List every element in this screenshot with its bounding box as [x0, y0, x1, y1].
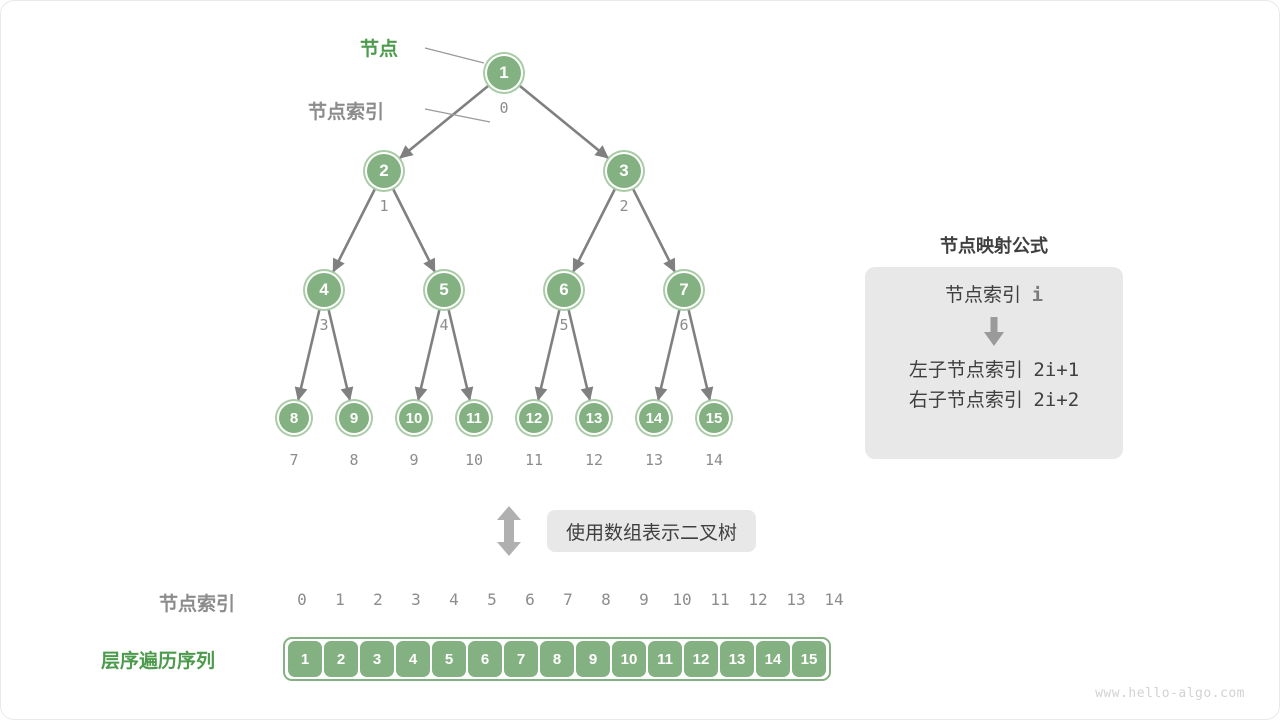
up-down-arrow-icon [495, 506, 523, 556]
array-index-cell: 8 [587, 590, 625, 609]
array-index-cell: 6 [511, 590, 549, 609]
array-index-cell: 11 [701, 590, 739, 609]
array-index-cell: 14 [815, 590, 853, 609]
tree-node: 4 [307, 273, 341, 307]
tree-node: 5 [427, 273, 461, 307]
tree-node: 1 [487, 56, 521, 90]
diagram-canvas: 节点 节点索引 10213243546576879810911101211131… [0, 0, 1280, 720]
array-cell: 1 [288, 641, 322, 677]
array-cell: 6 [468, 641, 502, 677]
array-cell: 8 [540, 641, 574, 677]
tree-node-index-label: 11 [514, 451, 554, 469]
annotation-node-label: 节点 [360, 34, 398, 61]
array-index-row: 01234567891011121314 [283, 590, 853, 609]
formula-right-child-line: 右子节点索引 2i+2 [909, 386, 1079, 415]
array-cell: 3 [360, 641, 394, 677]
tree-node-index-label: 9 [394, 451, 434, 469]
formula-panel: 节点索引 i 左子节点索引 2i+1 右子节点索引 2i+2 [865, 267, 1123, 459]
tree-node-index-label: 12 [574, 451, 614, 469]
tree-node-index-label: 8 [334, 451, 374, 469]
formula-input-var: i [1032, 284, 1043, 306]
array-cell: 2 [324, 641, 358, 677]
tree-node: 15 [699, 403, 729, 433]
array-container: 123456789101112131415 [283, 637, 831, 681]
tree-node: 14 [639, 403, 669, 433]
level-order-sequence-label: 层序遍历序列 [101, 646, 215, 673]
array-index-cell: 4 [435, 590, 473, 609]
array-index-cell: 1 [321, 590, 359, 609]
tree-node-index-label: 5 [544, 316, 584, 334]
tree-node: 10 [399, 403, 429, 433]
tree-node: 6 [547, 273, 581, 307]
array-index-cell: 10 [663, 590, 701, 609]
annotation-node-index-label: 节点索引 [308, 97, 384, 124]
tree-node: 9 [339, 403, 369, 433]
tree-node-index-label: 13 [634, 451, 674, 469]
tree-node-index-label: 14 [694, 451, 734, 469]
tree-edge [519, 85, 608, 158]
tree-node-index-label: 3 [304, 316, 344, 334]
array-index-row-label: 节点索引 [159, 589, 235, 616]
tree-edge-group [298, 85, 709, 400]
array-index-cell: 9 [625, 590, 663, 609]
formula-right-child-label: 右子节点索引 [909, 390, 1023, 411]
array-index-cell: 3 [397, 590, 435, 609]
tree-node: 7 [667, 273, 701, 307]
array-index-cell: 0 [283, 590, 321, 609]
tree-node-index-label: 0 [484, 99, 524, 117]
formula-left-child-label: 左子节点索引 [909, 360, 1023, 381]
tree-node-index-label: 1 [364, 197, 404, 215]
array-index-cell: 7 [549, 590, 587, 609]
watermark: www.hello-algo.com [1095, 686, 1245, 701]
tree-node-index-label: 4 [424, 316, 464, 334]
array-index-cell: 13 [777, 590, 815, 609]
array-index-cell: 5 [473, 590, 511, 609]
leader-line-node [425, 48, 484, 63]
array-index-cell: 2 [359, 590, 397, 609]
tree-node: 13 [579, 403, 609, 433]
array-cell: 13 [720, 641, 754, 677]
tree-node: 2 [367, 154, 401, 188]
formula-left-child-expr: 2i+1 [1033, 359, 1079, 381]
formula-input-line: 节点索引 i [945, 281, 1043, 310]
tree-node: 3 [607, 154, 641, 188]
tree-node: 11 [459, 403, 489, 433]
array-cell: 7 [504, 641, 538, 677]
formula-left-child-line: 左子节点索引 2i+1 [909, 356, 1079, 385]
tree-node-index-label: 10 [454, 451, 494, 469]
tree-node: 8 [279, 403, 309, 433]
formula-input-label: 节点索引 [945, 285, 1021, 306]
tree-node: 12 [519, 403, 549, 433]
array-cell: 12 [684, 641, 718, 677]
tree-node-index-label: 6 [664, 316, 704, 334]
formula-panel-title: 节点映射公式 [865, 232, 1123, 258]
tree-edge [400, 85, 489, 158]
down-arrow-icon [983, 317, 1005, 347]
convert-chip-label: 使用数组表示二叉树 [566, 518, 737, 545]
array-cell: 14 [756, 641, 790, 677]
tree-node-index-label: 2 [604, 197, 644, 215]
convert-chip: 使用数组表示二叉树 [547, 510, 756, 552]
array-cell: 9 [576, 641, 610, 677]
formula-right-child-expr: 2i+2 [1033, 389, 1079, 411]
array-cell: 4 [396, 641, 430, 677]
array-cell: 15 [792, 641, 826, 677]
tree-node-index-label: 7 [274, 451, 314, 469]
array-cell: 5 [432, 641, 466, 677]
array-cell: 10 [612, 641, 646, 677]
array-index-cell: 12 [739, 590, 777, 609]
array-cell: 11 [648, 641, 682, 677]
